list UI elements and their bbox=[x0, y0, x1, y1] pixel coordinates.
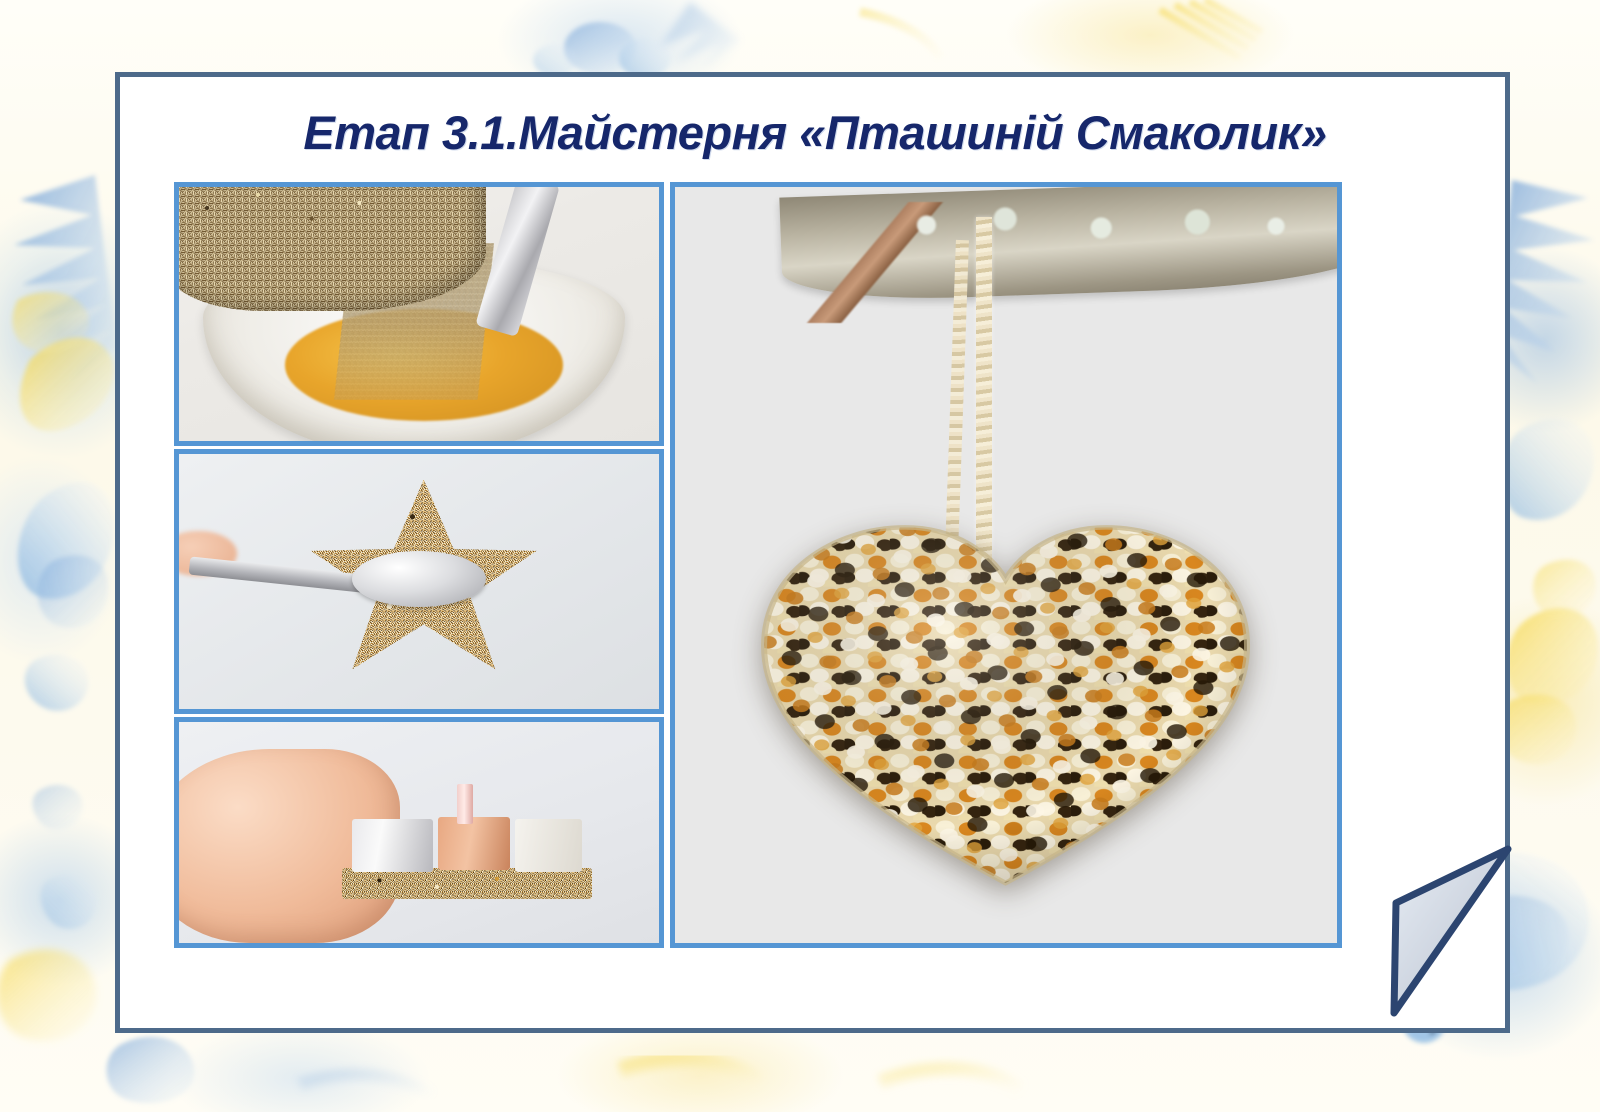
spoon-bowl bbox=[352, 551, 486, 607]
cookie-cutter-silver bbox=[352, 819, 434, 872]
photo-3-artwork bbox=[179, 722, 659, 943]
photo-heart-birdseed-feeder-on-branch bbox=[670, 182, 1342, 948]
slide-canvas: Етап 3.1.Майстерня «Пташиній Смаколик» bbox=[0, 0, 1600, 1112]
main-photo-artwork bbox=[675, 187, 1337, 943]
photo-hand-holding-cutters bbox=[174, 717, 664, 948]
cookie-cutter-white bbox=[515, 819, 582, 872]
straw bbox=[457, 784, 472, 824]
seed-layer bbox=[342, 868, 592, 899]
result-column bbox=[670, 182, 1342, 948]
photo-grid bbox=[174, 182, 1342, 948]
steps-column bbox=[174, 182, 664, 948]
cookie-cutter-copper bbox=[438, 817, 510, 870]
seed-pile bbox=[174, 182, 486, 311]
photo-mixing-seed-and-honey bbox=[174, 182, 664, 446]
photo-star-cookie-cutter-filling bbox=[174, 449, 664, 714]
photo-1-artwork bbox=[179, 187, 659, 441]
photo-2-artwork bbox=[179, 454, 659, 709]
page-title: Етап 3.1.Майстерня «Пташиній Смаколик» bbox=[135, 108, 1495, 157]
heart-seed-feeder bbox=[754, 520, 1257, 890]
lichen bbox=[874, 195, 1311, 255]
